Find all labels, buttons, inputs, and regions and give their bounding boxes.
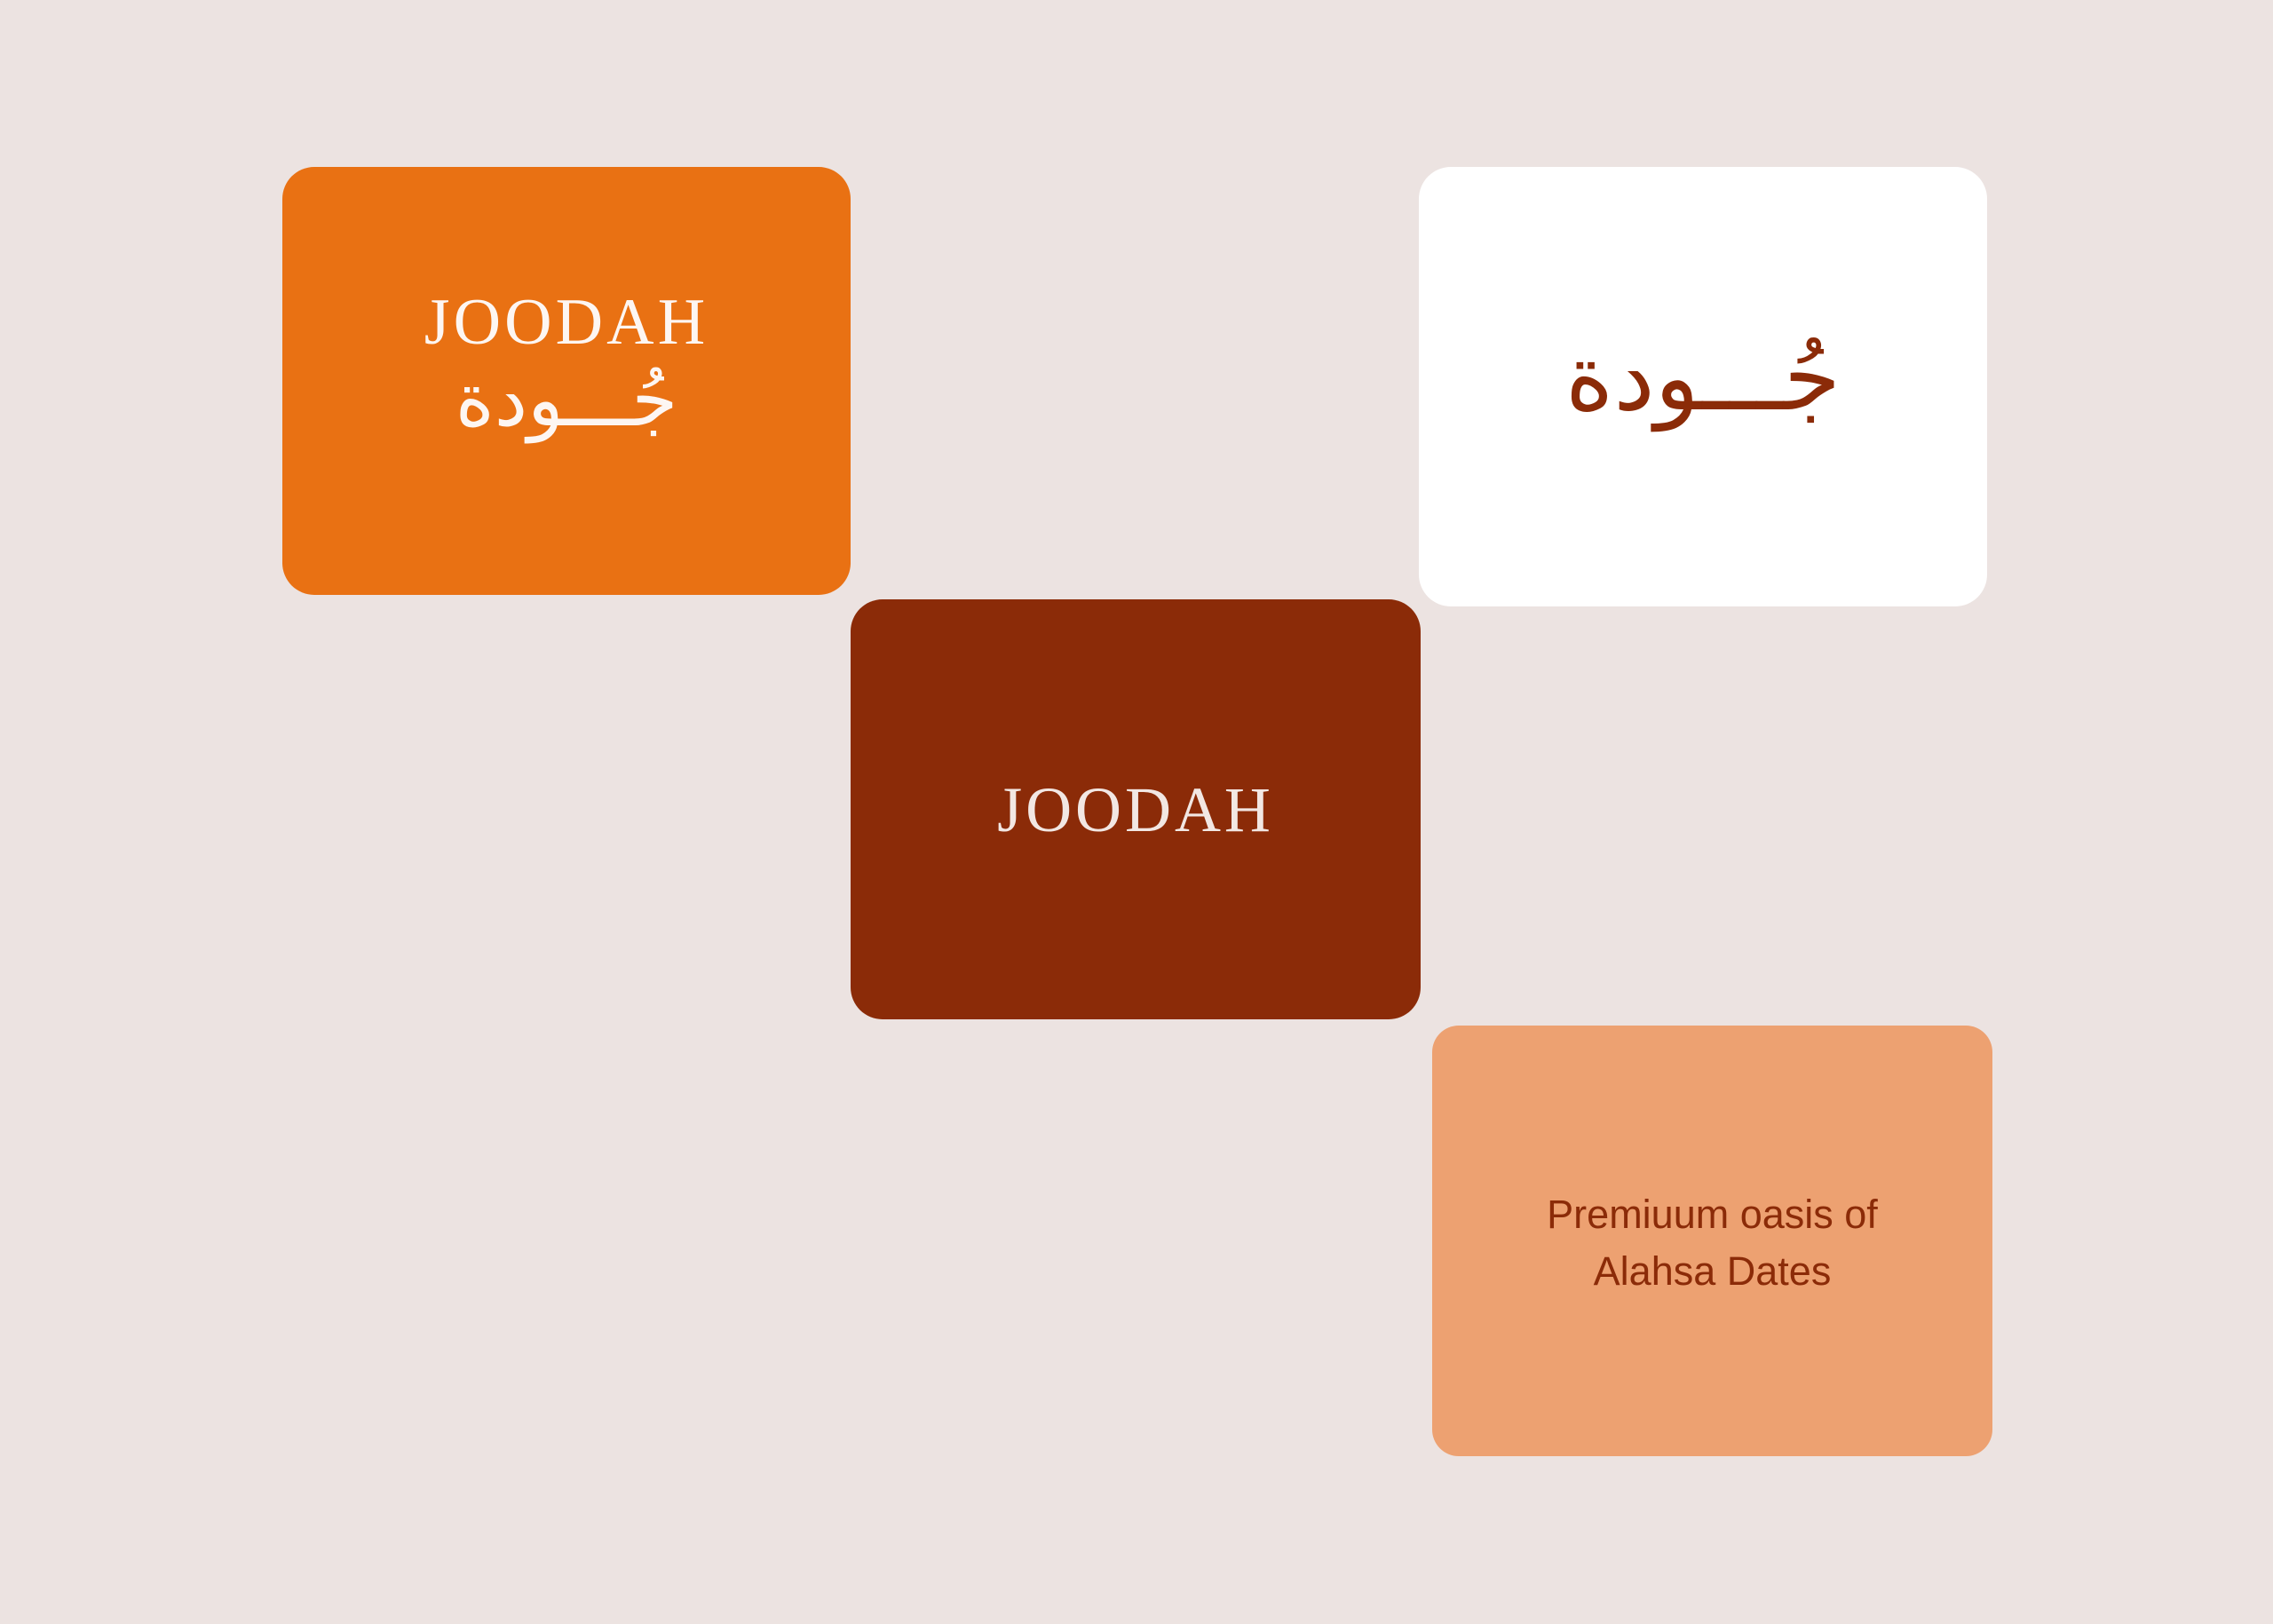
wordmark-arabic-joodah: جُـــودة xyxy=(1565,329,1841,426)
wordmark-arabic-joodah: جُـــودة xyxy=(455,360,678,440)
logo-lockup: JOODAH جُـــودة xyxy=(424,289,709,440)
brand-identity-board: JOODAH جُـــودة جُـــودة JOODAH Premiuum… xyxy=(0,0,2273,1624)
wordmark-latin-joodah: JOODAH xyxy=(997,778,1274,842)
logo-card-orange[interactable]: JOODAH جُـــودة xyxy=(282,167,851,595)
brand-tagline: Premiuum oasis of Alahsa Dates xyxy=(1526,1186,1899,1300)
logo-card-maroon[interactable]: JOODAH xyxy=(851,599,1421,1019)
logo-card-white[interactable]: جُـــودة xyxy=(1419,167,1987,606)
tagline-card-peach[interactable]: Premiuum oasis of Alahsa Dates xyxy=(1432,1026,1992,1456)
wordmark-latin-joodah: JOODAH xyxy=(424,289,709,355)
